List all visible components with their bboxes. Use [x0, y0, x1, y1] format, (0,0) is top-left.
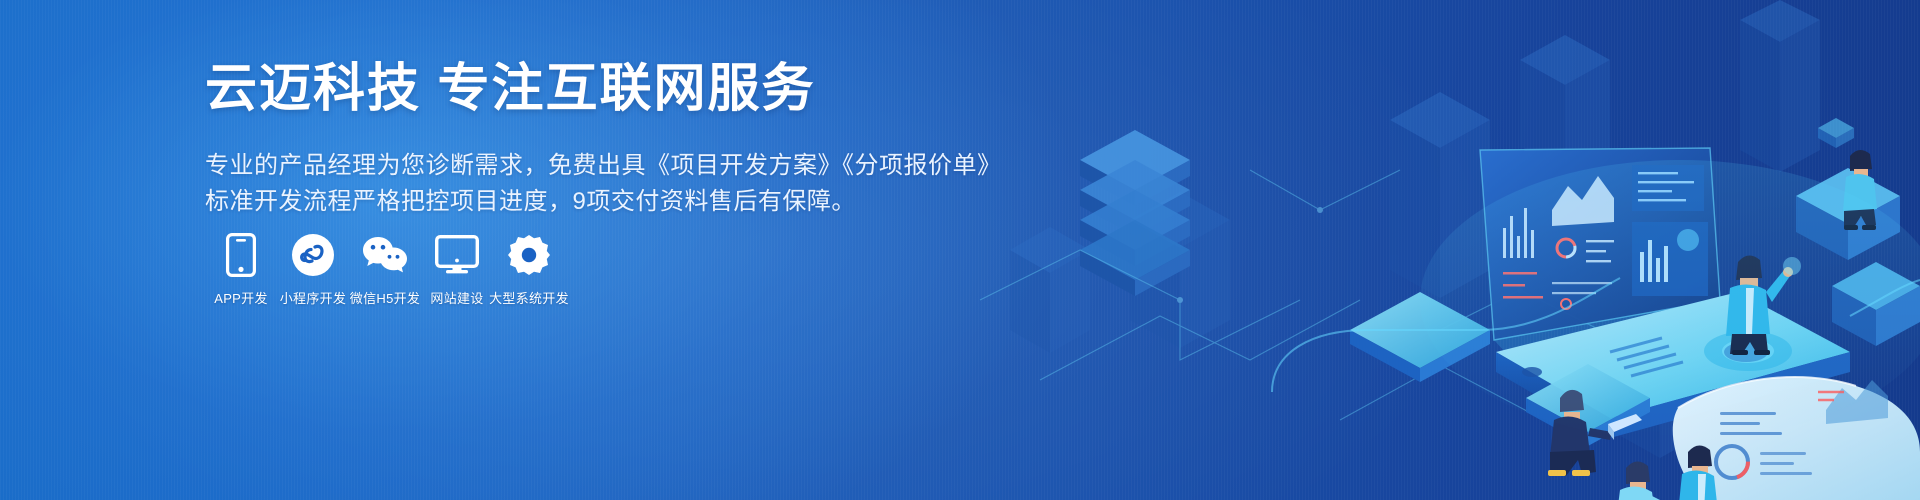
service-item-large-system[interactable]: 大型系统开发 [493, 232, 565, 307]
service-item-mini-program[interactable]: 小程序开发 [277, 232, 349, 307]
subtitle-line-1: 专业的产品经理为您诊断需求，免费出具《项目开发方案》《分项报价单》 [205, 148, 925, 184]
banner-copy: 云迈科技 专注互联网服务 专业的产品经理为您诊断需求，免费出具《项目开发方案》《… [205, 60, 925, 220]
wechat-icon [362, 232, 408, 278]
monitor-icon [434, 232, 480, 278]
mobile-phone-icon [218, 232, 264, 278]
service-item-app[interactable]: APP开发 [205, 232, 277, 307]
subtitle-line-2: 标准开发流程严格把控项目进度，9项交付资料售后有保障。 [205, 184, 925, 220]
banner-subtitle: 专业的产品经理为您诊断需求，免费出具《项目开发方案》《分项报价单》 标准开发流程… [205, 148, 925, 220]
promo-banner: 云迈科技 专注互联网服务 专业的产品经理为您诊断需求，免费出具《项目开发方案》《… [0, 0, 1920, 500]
service-label: 微信H5开发 [350, 288, 420, 307]
service-label: 大型系统开发 [489, 288, 569, 307]
isometric-illustration [920, 0, 1920, 500]
service-list: APP开发 小程序开发 [205, 232, 565, 307]
service-label: 网站建设 [430, 288, 483, 307]
service-item-wechat-h5[interactable]: 微信H5开发 [349, 232, 421, 307]
page-title: 云迈科技 专注互联网服务 [205, 60, 925, 120]
server-stack [1080, 130, 1190, 296]
floating-chips [1818, 118, 1854, 148]
mini-program-icon [290, 232, 336, 278]
service-label: 小程序开发 [280, 288, 347, 307]
gear-icon [506, 232, 552, 278]
service-label: APP开发 [214, 288, 268, 307]
service-item-website[interactable]: 网站建设 [421, 232, 493, 307]
